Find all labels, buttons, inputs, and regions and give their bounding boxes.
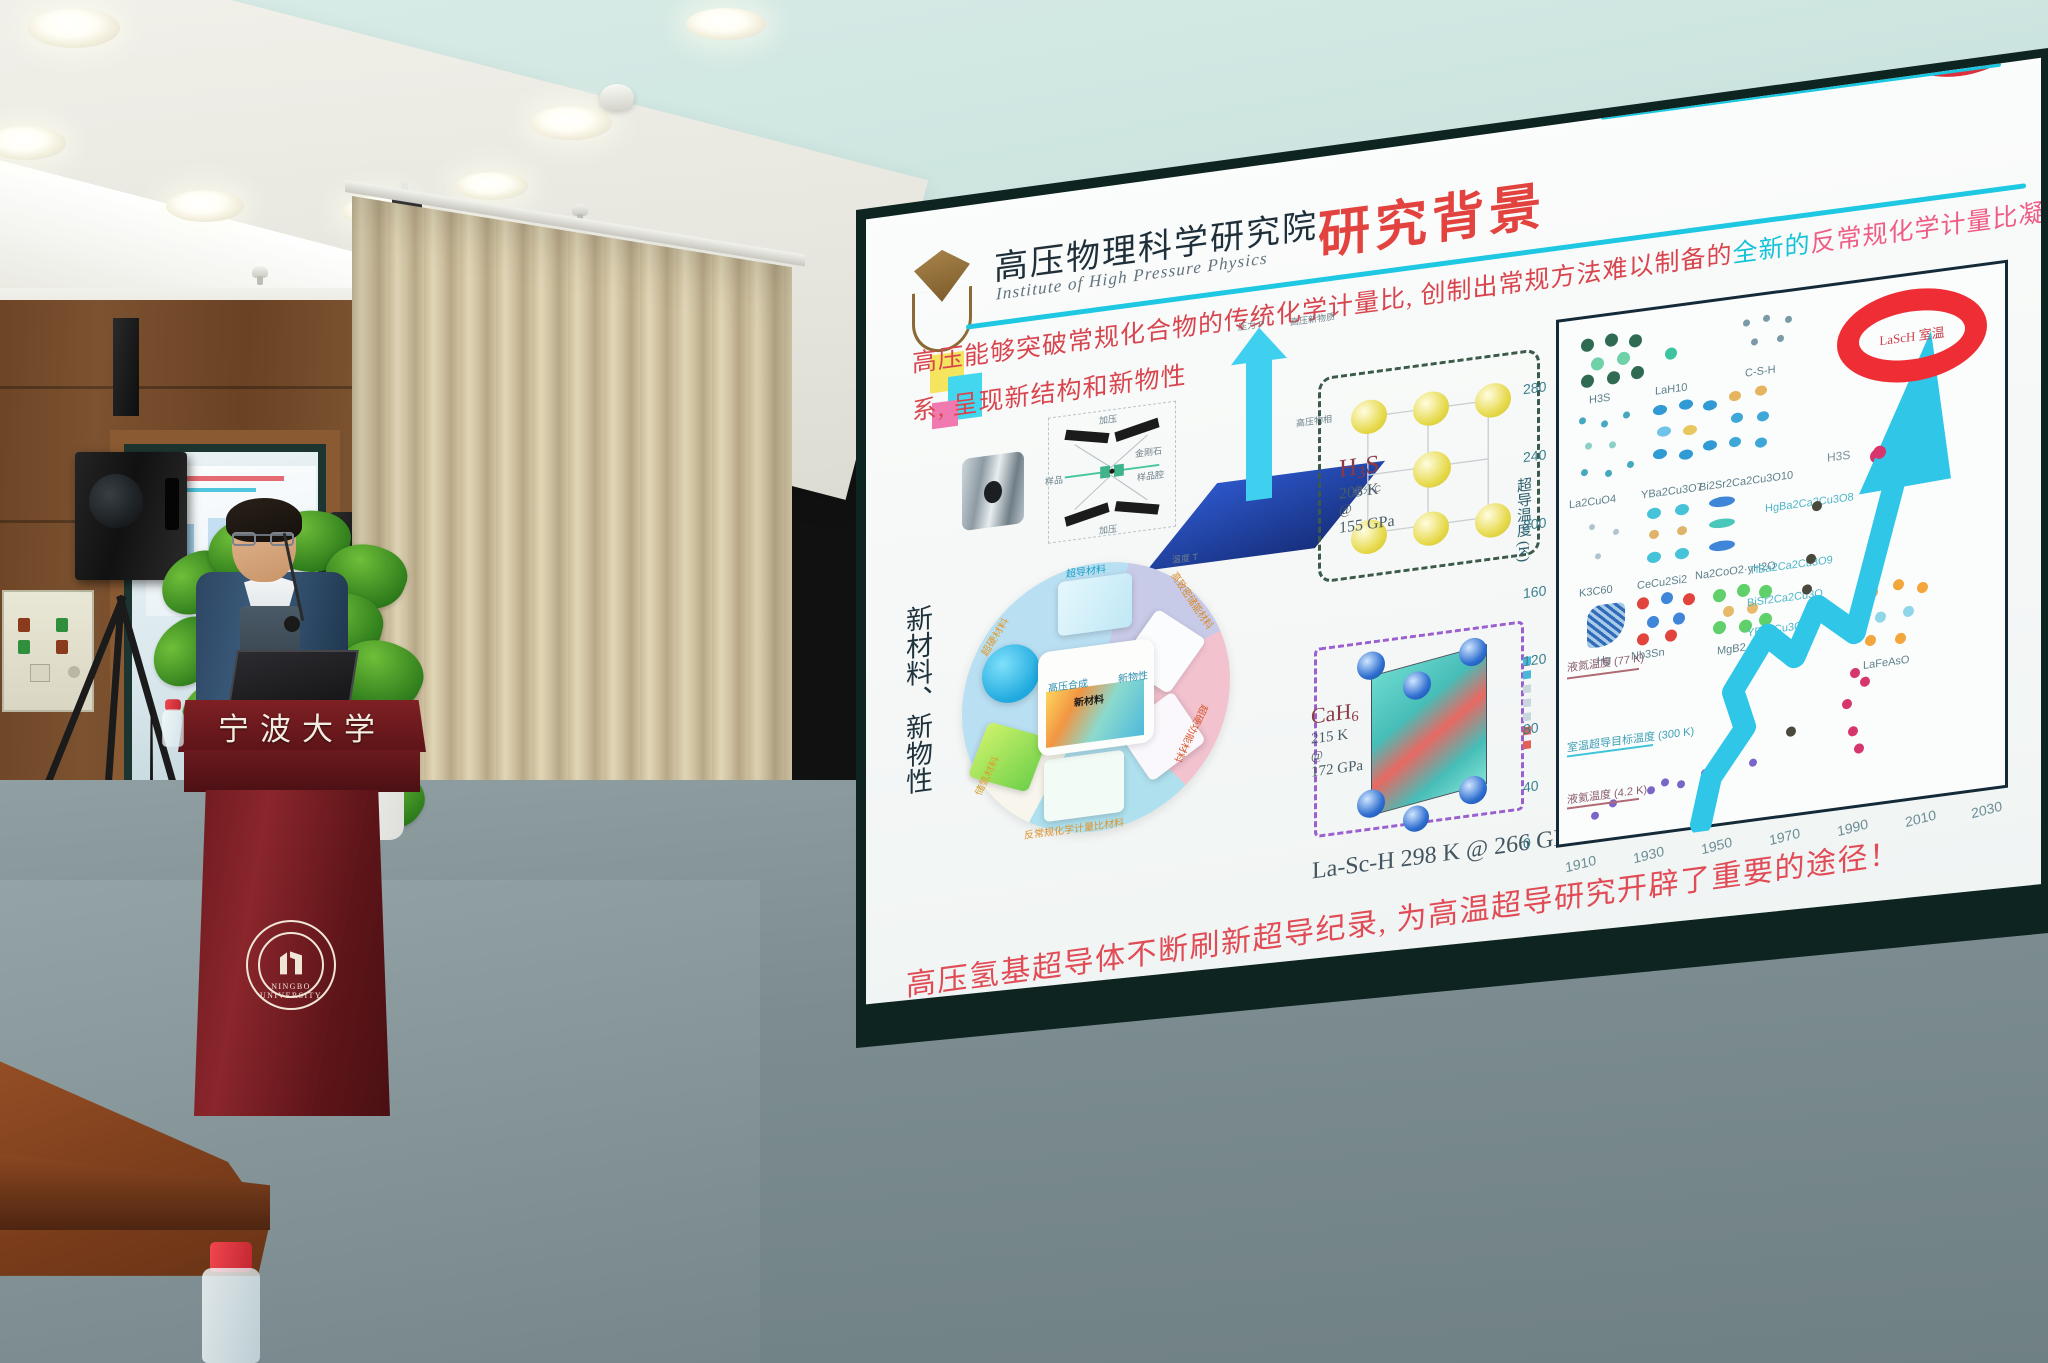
annotation-text: LaScH 室温 — [1879, 322, 1944, 350]
chart-label-tlbaca: TlBa2Ca2Cu3O9 — [1749, 554, 1833, 577]
side-vertical-label: 新材料、新物性 — [892, 603, 932, 797]
molecule-k3c60 — [1585, 513, 1633, 577]
molecule-cecu2si2 — [1643, 500, 1701, 572]
y-tick: 40 — [1523, 777, 1539, 795]
molecule-lah10 — [1665, 345, 1689, 372]
lectern-seal-en: NINGBO UNIVERSITY — [248, 982, 334, 1000]
molecule-lafeaso — [1859, 572, 1937, 656]
water-bottle-podium — [162, 699, 184, 747]
y-tick: 80 — [1523, 719, 1539, 737]
sprinkler-icon — [252, 266, 268, 278]
microphone-icon — [284, 616, 300, 632]
projection-screen[interactable]: 学科建设会议 宁波大学 NINGBO UNIVERSITY — [866, 52, 2041, 1014]
lectern: 宁波大学 NINGBO UNIVERSITY — [178, 700, 426, 1130]
lectern-top: 宁波大学 — [178, 700, 426, 752]
chart-label-lafeaso: LaFeAsO — [1863, 654, 1909, 672]
cah6-structure-box: CaH6 215 K @ 172 GPa — [1314, 620, 1524, 838]
superconductor-timeline-chart: 超导温度 (K) 280 240 200 160 120 80 40 0 191… — [1556, 260, 2008, 848]
y-tick: 280 — [1523, 378, 1546, 397]
y-tick: 240 — [1523, 446, 1546, 465]
molecule-la2cuo4 — [1575, 408, 1641, 491]
bottle-body — [202, 1268, 260, 1363]
legend-dot — [1873, 445, 1886, 460]
cah6-label: CaH6 215 K @ 172 GPa — [1311, 697, 1363, 782]
chart-label-csh: C-S-H — [1745, 364, 1776, 380]
chart-label-mgb2: MgB2 — [1717, 642, 1746, 658]
molecule-nb3sn — [1635, 588, 1697, 648]
pressure-axis-arrow — [1246, 356, 1272, 501]
lectern-seal-icon: NINGBO UNIVERSITY — [246, 920, 336, 1010]
h3s-label: H3S 203 K @ 155 GPa — [1339, 448, 1395, 537]
chart-label-h3s: H3S — [1589, 392, 1610, 407]
presentation-slide: 学科建设会议 宁波大学 NINGBO UNIVERSITY — [866, 52, 2041, 1014]
molecule-bsccо — [1725, 380, 1791, 471]
chart-label-lah10: LaH10 — [1655, 381, 1687, 397]
downlight-icon — [28, 8, 120, 48]
dac-label-sample: 样品 — [1045, 473, 1063, 488]
molecule-h3s — [1575, 327, 1647, 391]
downlight-icon — [530, 106, 612, 140]
chart-label-hgbaca: HgBa2Ca2Cu3O8 — [1765, 491, 1854, 515]
research-topics-wheel: 超导材料 高致密储能材料 超硬功能材料 反常规化学计量比材料 储氢材料 超硬材料… — [962, 545, 1230, 849]
bottle-body — [162, 709, 184, 746]
molecule-ybco — [1651, 393, 1721, 480]
dac-label-bottom-force: 加压 — [1099, 522, 1117, 537]
y-tick: 200 — [1523, 514, 1546, 533]
dac-label-top-force: 加压 — [1099, 412, 1117, 427]
x-tick: 2030 — [1970, 798, 2003, 822]
cah6-formula: CaH6 — [1311, 697, 1359, 728]
lectern-body: NINGBO UNIVERSITY — [194, 790, 390, 1116]
h3s-structure-box: H3S 203 K @ 155 GPa — [1318, 348, 1540, 584]
highlight-annotation-ring: LaScH 室温 — [1837, 279, 1987, 391]
legend-inline-text: H3S — [1827, 448, 1850, 465]
water-bottle — [200, 1242, 262, 1363]
chart-label-la2cuo4: La2CuO4 — [1569, 493, 1616, 511]
dome-camera-icon — [600, 84, 634, 110]
line-array-speaker — [113, 318, 139, 416]
x-tick: 2010 — [1904, 807, 1937, 831]
bullet-highlight-teal: 全新的 — [1733, 231, 1811, 268]
y-tick: 120 — [1523, 650, 1546, 669]
molecule-hg — [1587, 601, 1627, 652]
lectern-name-cn: 宁波大学 — [192, 704, 412, 749]
diamond-anvil-cell-icon — [962, 451, 1024, 531]
h3s-formula: H3S — [1339, 451, 1379, 483]
chart-label-bsccо: Bi2Sr2Ca2Cu3O10 — [1699, 469, 1793, 494]
lectern-mid — [184, 750, 420, 792]
y-tick: 160 — [1523, 582, 1546, 601]
lecture-hall-photo: 学科建设会议 宁波大学 NINGBO UNIVERSITY — [0, 0, 2048, 1363]
dac-schematic: 加压 加压 金刚石 样品腔 样品 — [1048, 401, 1176, 544]
molecule-csh — [1739, 308, 1803, 359]
molecule-nacoo — [1705, 491, 1753, 563]
downlight-icon — [166, 190, 244, 222]
legend-label-room-temp: 室温超导目标温度 (300 K) — [1567, 723, 1694, 756]
downlight-icon — [456, 172, 528, 200]
y-tick: 0 — [1523, 834, 1531, 851]
chart-label-k3c60: K3C60 — [1579, 583, 1613, 599]
downlight-icon — [686, 8, 766, 40]
sprinkler-icon — [572, 204, 588, 216]
chart-label-ybco: YBa2Cu3O7 — [1641, 481, 1703, 501]
